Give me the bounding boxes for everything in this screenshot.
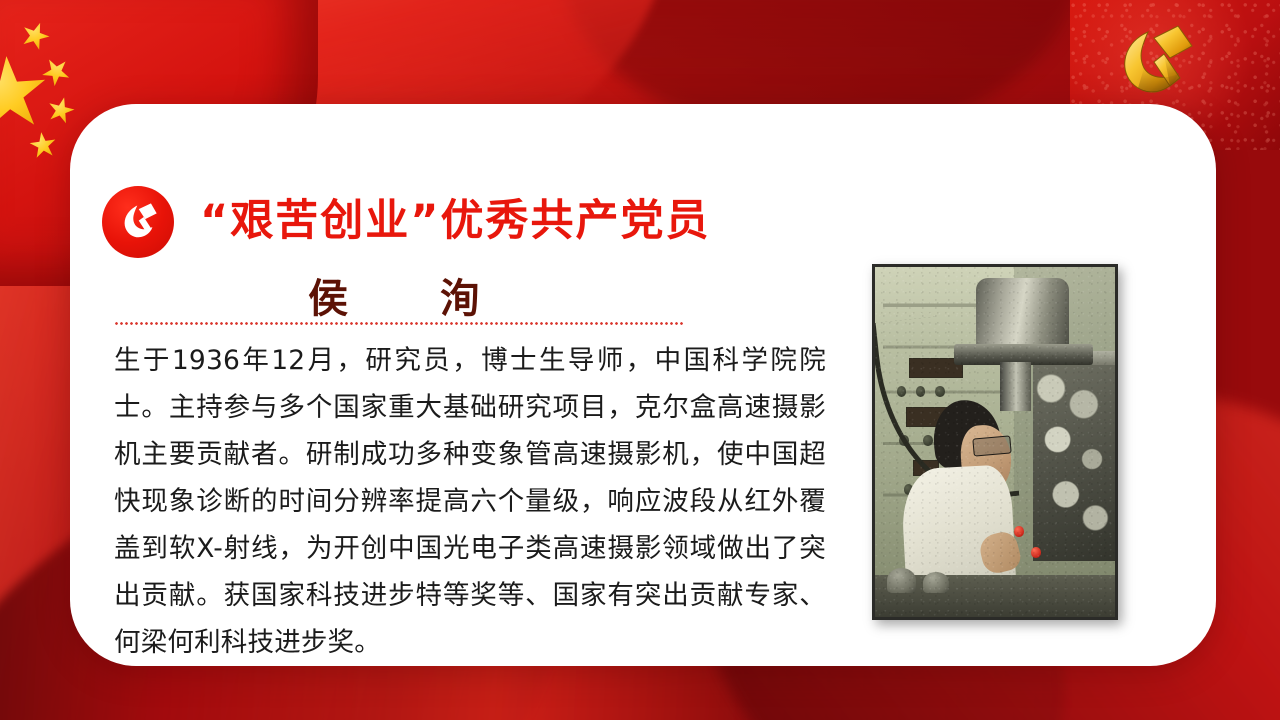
header-block: “艰苦创业”优秀共产党员 侯 洵 [102,186,862,324]
slide-root: “艰苦创业”优秀共产党员 侯 洵 生于1936年12月，研究员，博士生导师，中国… [0,0,1280,720]
scientist-photo [875,267,1115,617]
content-card: “艰苦创业”优秀共产党员 侯 洵 生于1936年12月，研究员，博士生导师，中国… [70,104,1216,666]
flag-star-small-2 [37,52,75,90]
hammer-sickle-icon [102,186,174,258]
biography-text: 生于1936年12月，研究员，博士生导师，中国科学院院士。主持参与多个国家重大基… [114,337,826,666]
photo-frame [872,264,1118,620]
person-name: 侯 洵 [102,266,862,324]
photo-chamber-ports [1033,365,1115,561]
photo-red-knob-1 [1014,526,1024,537]
flag-star-small-1 [18,18,53,53]
flag-star-small-3 [45,94,77,126]
dotted-divider [114,322,684,325]
photo-bench-object-2 [923,572,949,593]
page-title: “艰苦创业”优秀共产党员 [200,199,711,244]
photo-person-glasses [973,435,1012,456]
photo-bench-object-1 [887,568,916,593]
flag-star-small-4 [28,130,57,159]
party-emblem-gold-icon [1104,18,1210,114]
photo-red-knob-2 [1031,547,1041,558]
flag-star-large [0,54,48,133]
photo-vacuum-dome [976,278,1070,352]
title-row: “艰苦创业”优秀共产党员 [102,186,862,258]
photo-column [1000,362,1031,411]
